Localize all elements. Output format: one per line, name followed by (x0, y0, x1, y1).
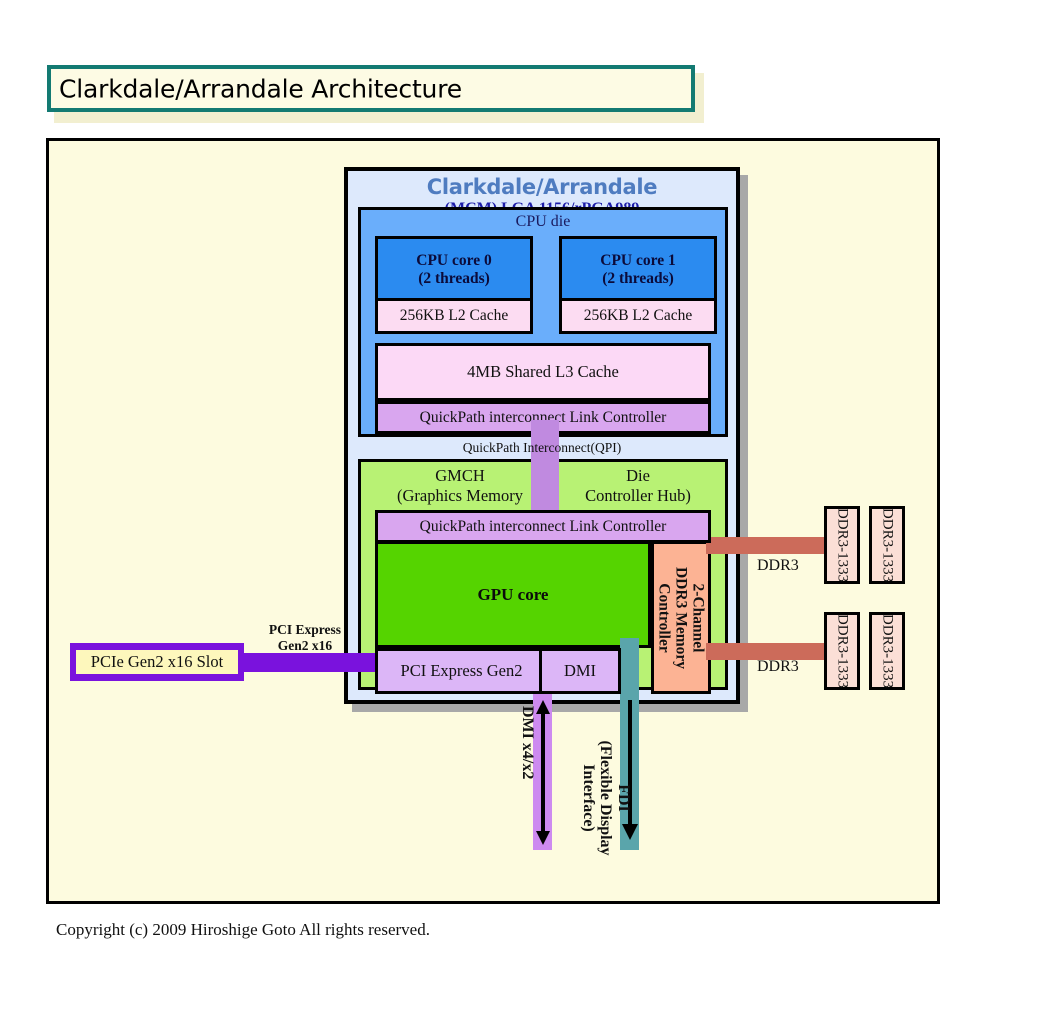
cpu-core-1-name: CPU core 1 (600, 252, 675, 269)
dimm-channel-1-slot-1: DDR3-1333 (869, 612, 905, 690)
cpu-core-1-l2-cache: 256KB L2 Cache (559, 298, 717, 334)
ddr3-channel-1-label: DDR3 (757, 658, 799, 676)
mem-ctrl-line2: DDR3 Memory (673, 566, 690, 668)
cpu-die: CPU die CPU core 0 (2 threads) 256KB L2 … (358, 207, 728, 437)
fdi-label-line1: FDI (615, 784, 632, 812)
ddr3-channel-0-label: DDR3 (757, 557, 799, 575)
cpu-core-0: CPU core 0 (2 threads) (375, 236, 533, 301)
copyright-notice: Copyright (c) 2009 Hiroshige Goto All ri… (56, 920, 430, 940)
cpu-die-label: CPU die (361, 213, 725, 231)
gpu-core: GPU core (375, 541, 651, 648)
gmch-qpi-link-controller: QuickPath interconnect Link Controller (375, 510, 711, 543)
page-title: Clarkdale/Arrandale Architecture (59, 74, 462, 103)
fdi-downstream-label: FDI (Flexible Display Interface) (579, 718, 632, 878)
dimm-label: DDR3-1333 (879, 614, 896, 688)
package-name: Clarkdale/Arrandale (348, 175, 736, 199)
l3-cache: 4MB Shared L3 Cache (375, 343, 711, 401)
dimm-channel-1-slot-0: DDR3-1333 (824, 612, 860, 690)
cpu-core-0-block: CPU core 0 (2 threads) 256KB L2 Cache (375, 236, 527, 328)
mem-ctrl-line3: Controller (655, 583, 672, 652)
pcie-link-label-line1: PCI Express (269, 622, 341, 637)
cpu-core-0-name: CPU core 0 (416, 252, 491, 269)
ddr3-memory-controller: 2-Channel DDR3 Memory Controller (651, 541, 711, 694)
pcie-slot-label: PCIe Gen2 x16 Slot (76, 650, 238, 674)
fdi-label-line3: Interface) (580, 764, 597, 832)
cpu-core-0-threads: (2 threads) (418, 270, 490, 287)
pcie-link-label: PCI Express Gen2 x16 (250, 622, 360, 653)
ddr3-memory-controller-label: 2-Channel DDR3 Memory Controller (655, 566, 706, 668)
dimm-label: DDR3-1333 (834, 614, 851, 688)
qpi-interconnect-label: QuickPath Interconnect(QPI) (344, 440, 740, 456)
qpi-interconnect-bar (531, 420, 559, 520)
gmch-label-left-line1: GMCH (435, 466, 485, 485)
title-banner: Clarkdale/Arrandale Architecture (47, 65, 695, 112)
dimm-channel-0-slot-0: DDR3-1333 (824, 506, 860, 584)
dimm-label: DDR3-1333 (879, 508, 896, 582)
cpu-core-1-block: CPU core 1 (2 threads) 256KB L2 Cache (559, 236, 711, 328)
cpu-core-1-threads: (2 threads) (602, 270, 674, 287)
dmi-downstream-label: DMI x4/x2 (518, 706, 536, 856)
gmch-label-right: Die Controller Hub) (563, 466, 713, 506)
pcie-link-label-line2: Gen2 x16 (278, 638, 332, 653)
gmch-label-right-line1: Die (626, 466, 650, 485)
dmi-block: DMI (539, 648, 621, 694)
cpu-core-0-l2-cache: 256KB L2 Cache (375, 298, 533, 334)
pcie-gen2-x16-slot: PCIe Gen2 x16 Slot (70, 643, 244, 681)
gmch-label-left: GMCH (Graphics Memory (385, 466, 535, 506)
pci-express-gen2-block: PCI Express Gen2 (375, 648, 548, 694)
fdi-label-line2: (Flexible Display (597, 740, 614, 855)
mem-ctrl-line1: 2-Channel (690, 583, 707, 652)
pcie-link-bar (230, 653, 375, 672)
dimm-label: DDR3-1333 (834, 508, 851, 582)
gmch-label-right-line2: Controller Hub) (585, 486, 691, 505)
gmch-label-left-line2: (Graphics Memory (397, 486, 523, 505)
dimm-channel-0-slot-1: DDR3-1333 (869, 506, 905, 584)
cpu-core-1: CPU core 1 (2 threads) (559, 236, 717, 301)
